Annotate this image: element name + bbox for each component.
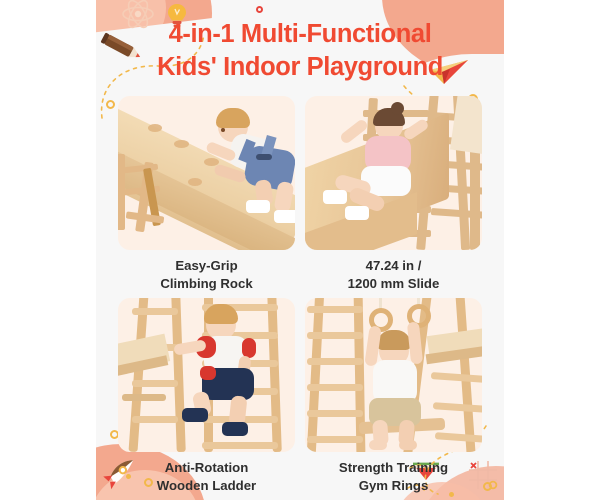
feature-image-wooden-ladder [118, 298, 295, 452]
feature-card-climbing-rock[interactable]: Easy-Grip Climbing Rock [118, 96, 295, 292]
feature-caption: 47.24 in / 1200 mm Slide [305, 257, 482, 292]
page-title: 4-in-1 Multi-Functional Kids' Indoor Pla… [96, 18, 504, 83]
decor-ring [106, 100, 115, 109]
header: 4-in-1 Multi-Functional Kids' Indoor Pla… [96, 0, 504, 96]
scene-climbing-rock [118, 96, 295, 250]
scene-slide [305, 96, 482, 250]
feature-image-climbing-rock [118, 96, 295, 250]
feature-image-gym-rings [305, 298, 482, 452]
scene-gym-rings [305, 298, 482, 452]
infographic-canvas: 4-in-1 Multi-Functional Kids' Indoor Pla… [0, 0, 600, 500]
feature-card-wooden-ladder[interactable]: Anti-Rotation Wooden Ladder [118, 298, 295, 494]
scene-wooden-ladder [118, 298, 295, 452]
feature-grid: Easy-Grip Climbing Rock [118, 96, 482, 495]
feature-card-gym-rings[interactable]: Strength Training Gym Rings [305, 298, 482, 494]
content-panel: 4-in-1 Multi-Functional Kids' Indoor Pla… [96, 0, 504, 500]
feature-caption: Easy-Grip Climbing Rock [118, 257, 295, 292]
decor-ring [483, 482, 492, 491]
feature-image-slide [305, 96, 482, 250]
feature-caption: Strength Training Gym Rings [305, 459, 482, 494]
feature-card-slide[interactable]: 47.24 in / 1200 mm Slide [305, 96, 482, 292]
feature-caption: Anti-Rotation Wooden Ladder [118, 459, 295, 494]
